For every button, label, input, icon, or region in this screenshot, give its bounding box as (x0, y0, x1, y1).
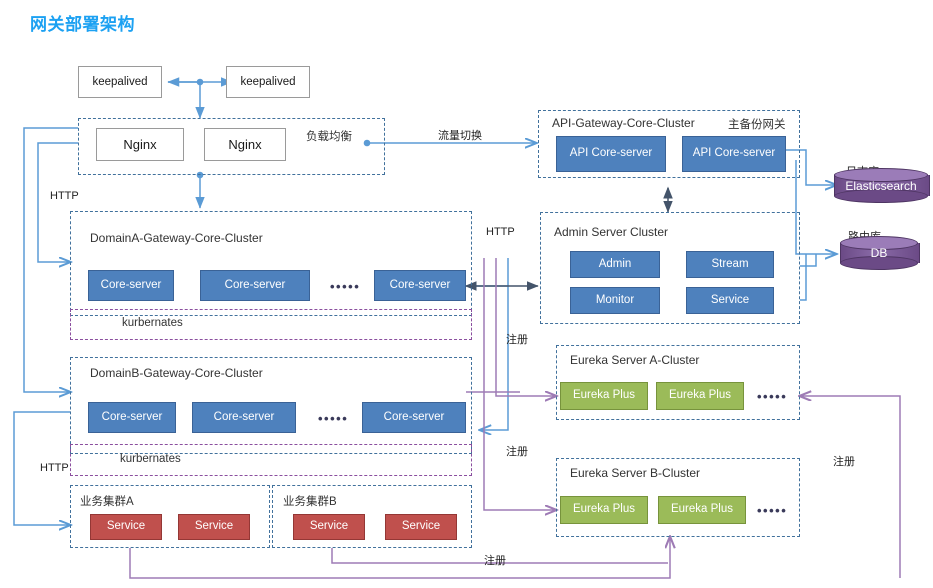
db-cylinder[interactable]: DB (840, 236, 918, 270)
register-label-1: 注册 (506, 331, 528, 347)
biz-a-service-2[interactable]: Service (178, 514, 250, 540)
diagram-canvas: 网关部署架构 keepalived keepalived 负载均衡 Nginx … (0, 0, 933, 588)
biz-b-service-1[interactable]: Service (293, 514, 365, 540)
admin-node-admin[interactable]: Admin (570, 251, 660, 278)
elasticsearch-label: Elasticsearch (834, 168, 928, 203)
eureka-a-node-1[interactable]: Eureka Plus (560, 382, 648, 410)
keepalived-left[interactable]: keepalived (78, 66, 162, 98)
http-label-bottom: HTTP (40, 462, 69, 474)
biz-b-service-2[interactable]: Service (385, 514, 457, 540)
load-balancer-label: 负载均衡 (306, 128, 352, 144)
domainb-kubernetes-label: kurbernates (120, 453, 181, 465)
eureka-b-node-2[interactable]: Eureka Plus (658, 496, 746, 524)
api-gateway-title: API-Gateway-Core-Cluster (552, 116, 695, 130)
db-label: DB (840, 236, 918, 270)
api-core-server-1[interactable]: API Core-server (556, 136, 666, 172)
traffic-switch-label: 流量切换 (438, 127, 482, 143)
domainb-title: DomainB-Gateway-Core-Cluster (90, 366, 263, 380)
nginx-right[interactable]: Nginx (204, 128, 286, 161)
eureka-a-ellipsis: ••••• (757, 389, 787, 404)
register-label-3: 注册 (484, 552, 506, 568)
keepalived-right[interactable]: keepalived (226, 66, 310, 98)
domaina-core-server-3[interactable]: Core-server (374, 270, 466, 301)
http-label-right: HTTP (486, 226, 515, 238)
api-core-server-2[interactable]: API Core-server (682, 136, 786, 172)
domainb-core-server-1[interactable]: Core-server (88, 402, 176, 433)
domainb-core-server-3[interactable]: Core-server (362, 402, 466, 433)
domaina-title: DomainA-Gateway-Core-Cluster (90, 231, 263, 245)
admin-cluster-title: Admin Server Cluster (554, 225, 668, 239)
domainb-core-server-2[interactable]: Core-server (192, 402, 296, 433)
admin-node-stream[interactable]: Stream (686, 251, 774, 278)
eureka-b-ellipsis: ••••• (757, 503, 787, 518)
elasticsearch-cylinder[interactable]: Elasticsearch (834, 168, 928, 203)
domaina-kubernetes-label: kurbernates (122, 317, 183, 329)
biz-a-service-1[interactable]: Service (90, 514, 162, 540)
nginx-left[interactable]: Nginx (96, 128, 184, 161)
eureka-a-node-2[interactable]: Eureka Plus (656, 382, 744, 410)
register-label-4: 注册 (833, 453, 855, 469)
domaina-core-server-1[interactable]: Core-server (88, 270, 174, 301)
register-label-2: 注册 (506, 443, 528, 459)
eureka-b-node-1[interactable]: Eureka Plus (560, 496, 648, 524)
domainb-ellipsis: ••••• (318, 411, 348, 426)
domaina-ellipsis: ••••• (330, 279, 360, 294)
api-gateway-corner-label: 主备份网关 (728, 116, 786, 132)
eureka-a-title: Eureka Server A-Cluster (570, 353, 699, 367)
business-cluster-b-title: 业务集群B (283, 493, 337, 509)
http-label-top: HTTP (50, 190, 79, 202)
page-title: 网关部署架构 (30, 10, 135, 35)
admin-node-service[interactable]: Service (686, 287, 774, 314)
domaina-core-server-2[interactable]: Core-server (200, 270, 310, 301)
business-cluster-a-title: 业务集群A (80, 493, 134, 509)
eureka-b-title: Eureka Server B-Cluster (570, 466, 700, 480)
admin-node-monitor[interactable]: Monitor (570, 287, 660, 314)
